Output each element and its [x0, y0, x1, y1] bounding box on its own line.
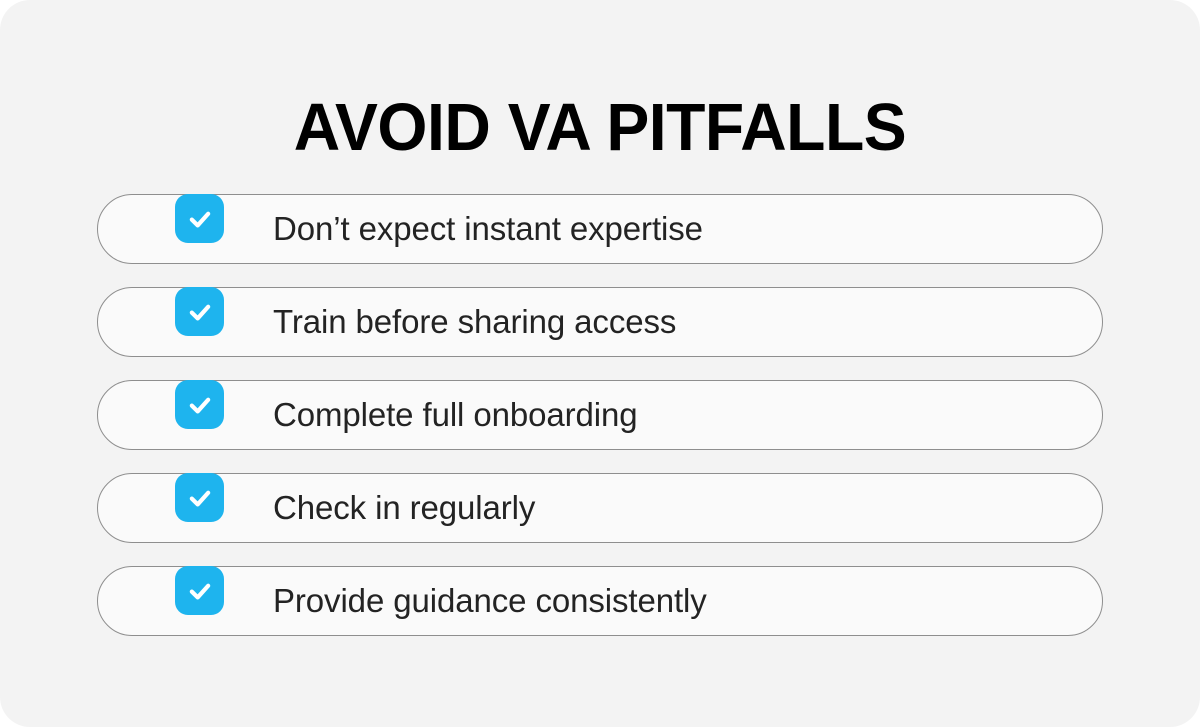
list-item[interactable]: Complete full onboarding [97, 380, 1103, 450]
list-item[interactable]: Provide guidance consistently [97, 566, 1103, 636]
list-item-label: Train before sharing access [273, 302, 676, 342]
list-item-label: Complete full onboarding [273, 395, 638, 435]
checkbox-checked[interactable] [175, 566, 224, 615]
list-item-label: Check in regularly [273, 488, 535, 528]
page-title: AVOID VA PITFALLS [24, 88, 1176, 168]
check-icon [186, 205, 214, 233]
check-icon [186, 391, 214, 419]
checkbox-checked[interactable] [175, 287, 224, 336]
list-item-label: Provide guidance consistently [273, 581, 707, 621]
list-item[interactable]: Check in regularly [97, 473, 1103, 543]
list-item[interactable]: Don’t expect instant expertise [97, 194, 1103, 264]
checkbox-checked[interactable] [175, 380, 224, 429]
checkbox-checked[interactable] [175, 473, 224, 522]
check-icon [186, 298, 214, 326]
checklist: Don’t expect instant expertise Train bef… [97, 194, 1103, 636]
check-icon [186, 577, 214, 605]
list-item-label: Don’t expect instant expertise [273, 209, 703, 249]
check-icon [186, 484, 214, 512]
checklist-card: AVOID VA PITFALLS Don’t expect instant e… [0, 0, 1200, 727]
list-item[interactable]: Train before sharing access [97, 287, 1103, 357]
checkbox-checked[interactable] [175, 194, 224, 243]
